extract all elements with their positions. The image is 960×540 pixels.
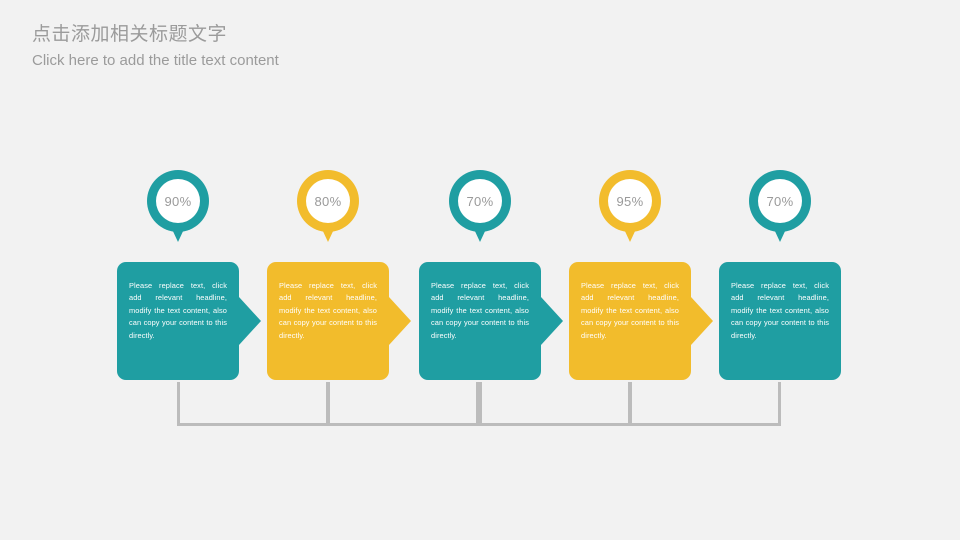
- step-card[interactable]: Please replace text, click add relevant …: [117, 262, 239, 380]
- step-body-text: Please replace text, click add relevant …: [581, 280, 679, 342]
- pin-value-badge: 95%: [608, 179, 652, 223]
- percent-label: 95%: [617, 194, 644, 209]
- percent-label: 80%: [315, 194, 342, 209]
- process-step-2[interactable]: 80% Please replace text, click add relev…: [267, 0, 389, 540]
- step-body-text: Please replace text, click add relevant …: [279, 280, 377, 342]
- arrow-right-icon: [239, 297, 261, 345]
- percent-label: 70%: [467, 194, 494, 209]
- pin-value-badge: 80%: [306, 179, 350, 223]
- map-pin-icon: 90%: [147, 170, 209, 232]
- map-pin-icon: 80%: [297, 170, 359, 232]
- pin-value-badge: 90%: [156, 179, 200, 223]
- percent-label: 70%: [767, 194, 794, 209]
- step-card[interactable]: Please replace text, click add relevant …: [419, 262, 541, 380]
- step-body-text: Please replace text, click add relevant …: [129, 280, 227, 342]
- map-pin-icon: 95%: [599, 170, 661, 232]
- arrow-right-icon: [389, 297, 411, 345]
- percent-label: 90%: [165, 194, 192, 209]
- step-card[interactable]: Please replace text, click add relevant …: [267, 262, 389, 380]
- arrow-right-icon: [691, 297, 713, 345]
- map-pin-icon: 70%: [749, 170, 811, 232]
- step-body-text: Please replace text, click add relevant …: [731, 280, 829, 342]
- process-step-3[interactable]: 70% Please replace text, click add relev…: [419, 0, 541, 540]
- process-step-4[interactable]: 95% Please replace text, click add relev…: [569, 0, 691, 540]
- process-step-1[interactable]: 90% Please replace text, click add relev…: [117, 0, 239, 540]
- map-pin-icon: 70%: [449, 170, 511, 232]
- pin-value-badge: 70%: [758, 179, 802, 223]
- step-card[interactable]: Please replace text, click add relevant …: [719, 262, 841, 380]
- step-body-text: Please replace text, click add relevant …: [431, 280, 529, 342]
- process-step-5[interactable]: 70% Please replace text, click add relev…: [719, 0, 841, 540]
- step-card[interactable]: Please replace text, click add relevant …: [569, 262, 691, 380]
- arrow-right-icon: [541, 297, 563, 345]
- pin-value-badge: 70%: [458, 179, 502, 223]
- process-diagram: 90% Please replace text, click add relev…: [0, 0, 960, 540]
